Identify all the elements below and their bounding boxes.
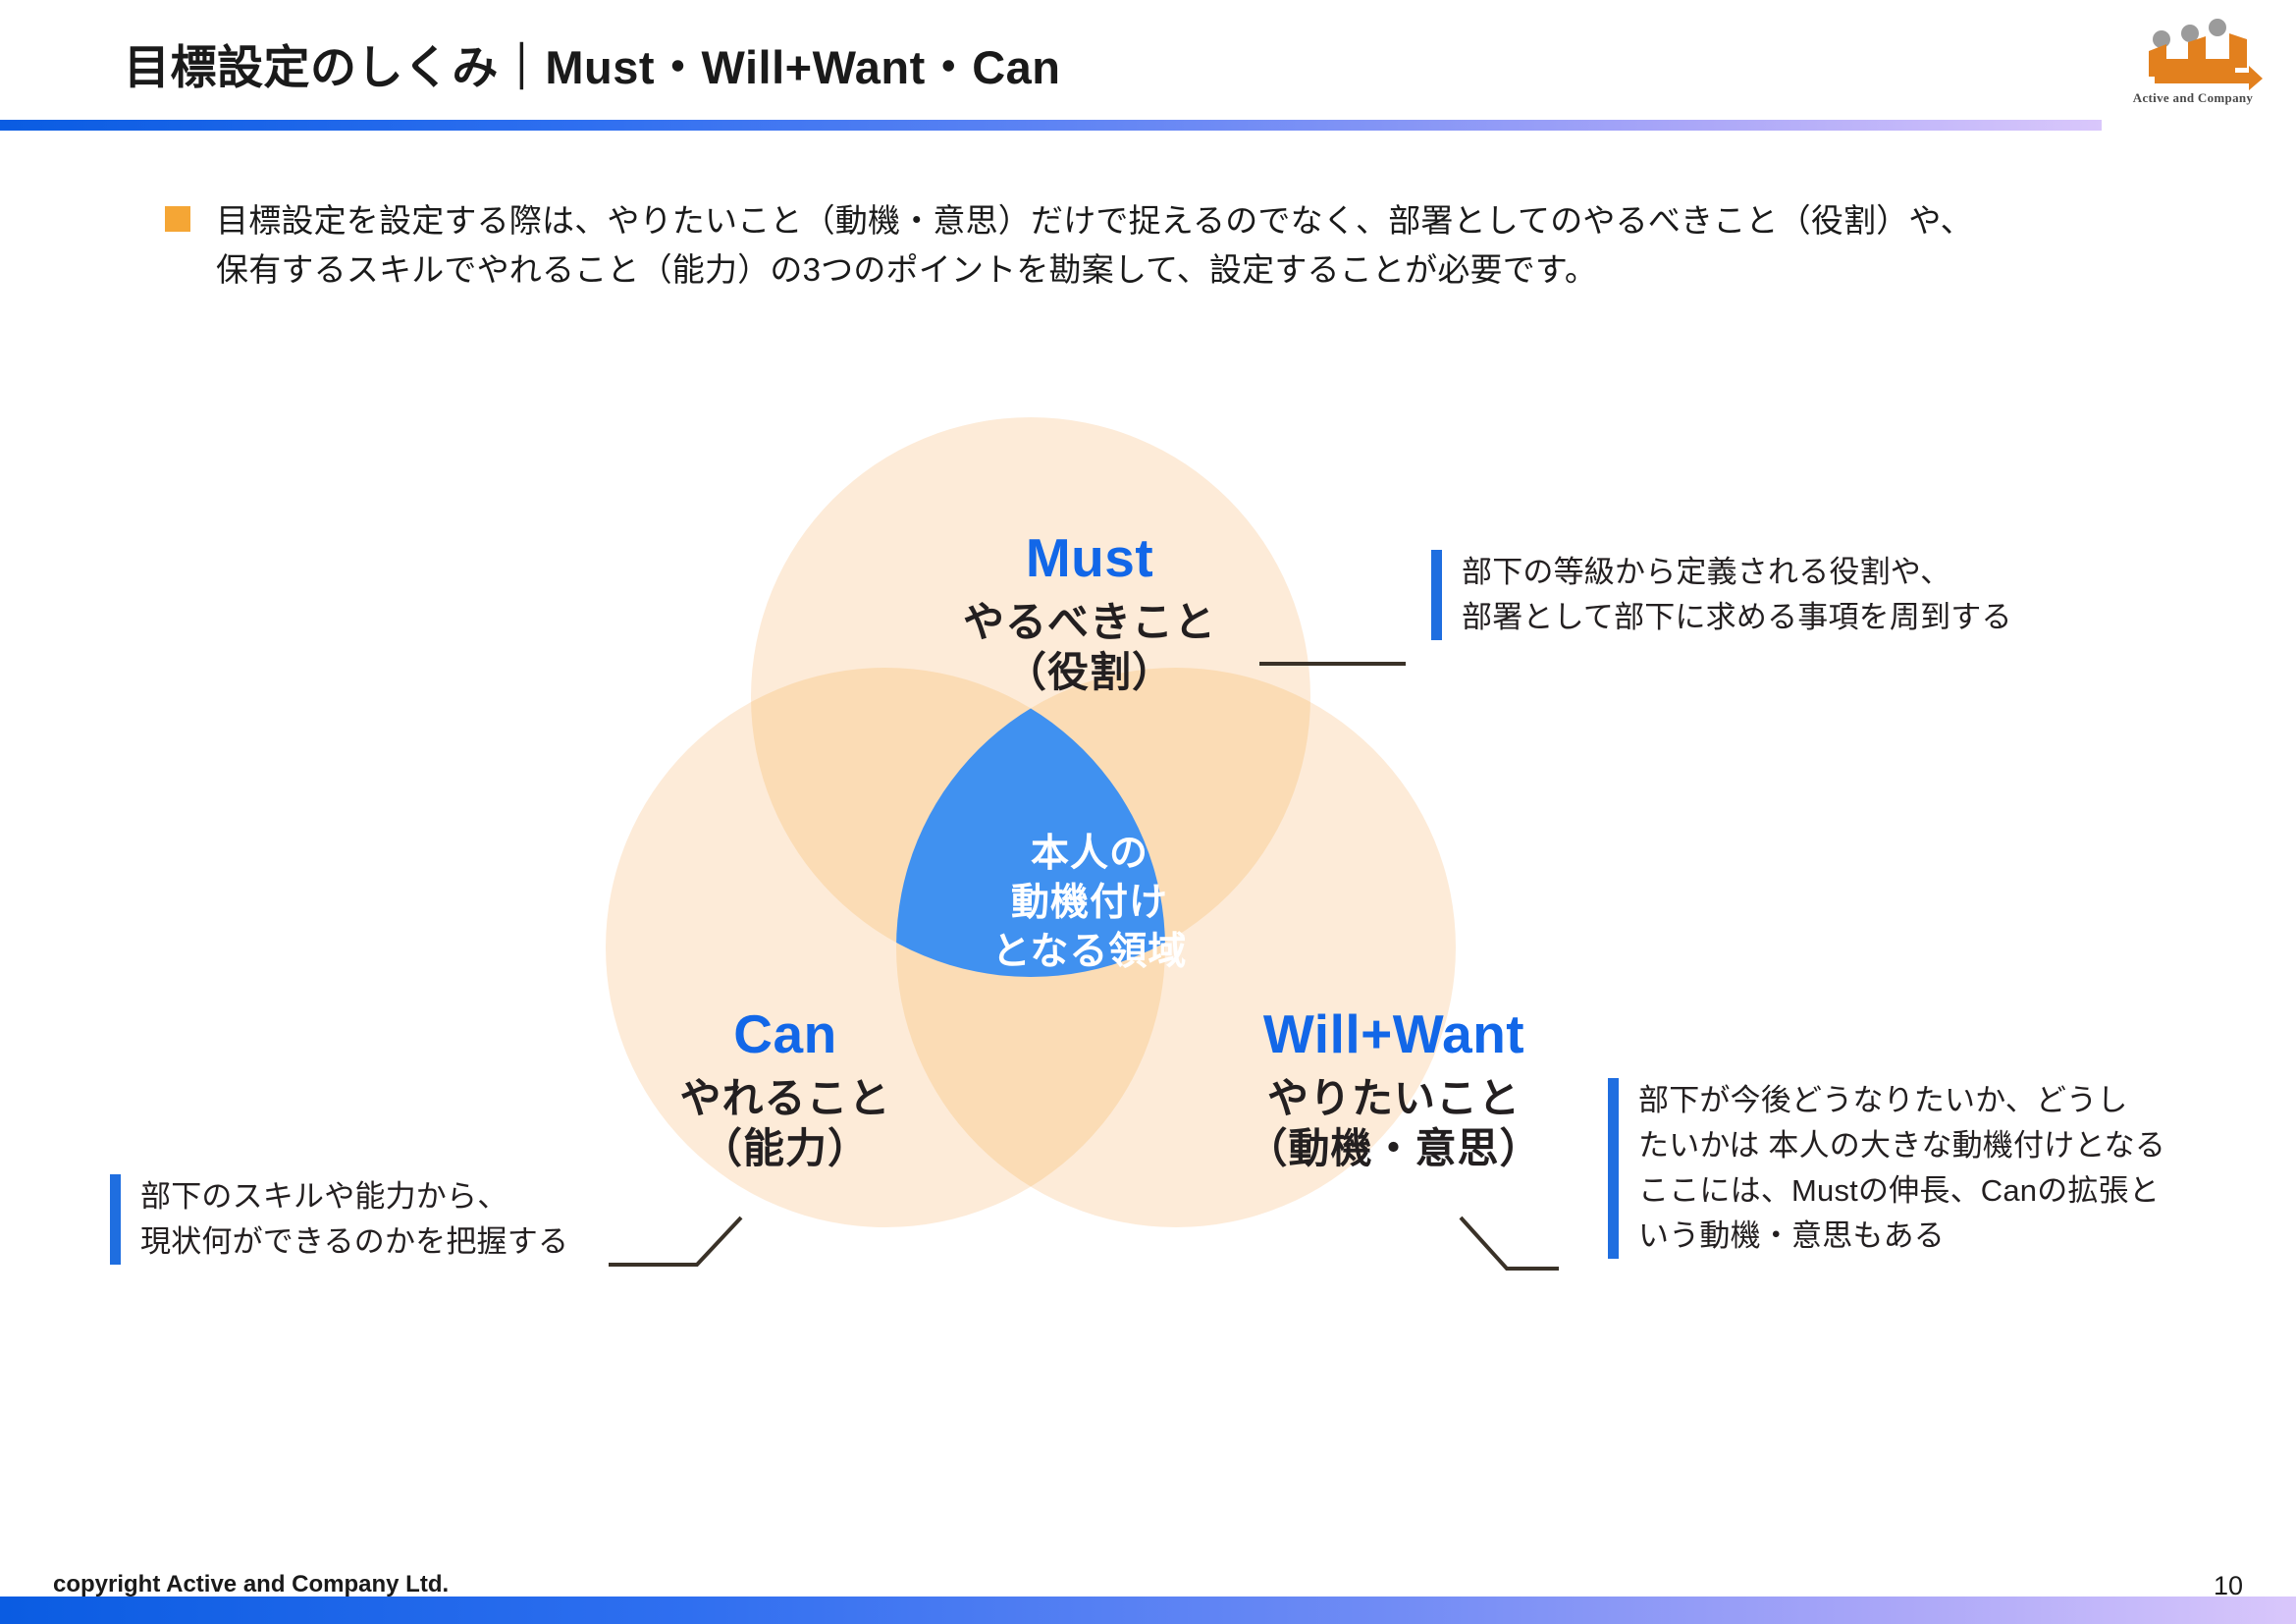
venn-center-line-2: 動機付け (933, 879, 1247, 928)
callout-must-line-2: 部署として部下に求める事項を周到する (1462, 595, 2012, 640)
company-logo: Active and Company (2119, 12, 2267, 108)
venn-label-must: Must やるべきこと （役割） (933, 525, 1247, 698)
lead-paragraph: 目標設定を設定する際は、やりたいこと（動機・意思）だけで捉えるのでなく、部署とし… (165, 196, 2148, 295)
callout-will-text: 部下が今後どうなりたいか、どうし たいかは 本人の大きな動機付けとなる ここには… (1638, 1078, 2165, 1259)
venn-label-must-jp2: （役割） (933, 647, 1247, 697)
callout-can-line-2: 現状何ができるのかを把握する (140, 1219, 568, 1265)
callout-must-line-1: 部下の等級から定義される役割や、 (1462, 550, 2012, 595)
callout-will-line-2: たいかは 本人の大きな動機付けとなる (1638, 1123, 2165, 1168)
page-title: 目標設定のしくみ｜Must・Will+Want・Can (124, 29, 1061, 97)
venn-label-will: Will+Want やりたいこと （動機・意思） (1207, 1001, 1580, 1174)
venn-center-line-3: となる領域 (933, 928, 1247, 977)
venn-label-must-jp1: やるべきこと (933, 597, 1247, 647)
venn-label-can: Can やれること （能力） (628, 1001, 942, 1174)
header-gradient-divider (0, 120, 2102, 131)
venn-label-must-en: Must (933, 525, 1247, 591)
callout-accent-bar (1608, 1078, 1619, 1259)
logo-mark-icon (2119, 12, 2267, 92)
venn-center-line-1: 本人の (933, 830, 1247, 879)
callout-will: 部下が今後どうなりたいか、どうし たいかは 本人の大きな動機付けとなる ここには… (1608, 1078, 2165, 1259)
lead-paragraph-text: 目標設定を設定する際は、やりたいこと（動機・意思）だけで捉えるのでなく、部署とし… (216, 196, 1973, 295)
venn-label-can-en: Can (628, 1001, 942, 1067)
venn-center-label: 本人の 動機付け となる領域 (933, 830, 1247, 977)
callout-can-text: 部下のスキルや能力から、 現状何ができるのかを把握する (140, 1174, 568, 1265)
callout-accent-bar (1431, 550, 1442, 640)
logo-caption: Active and Company (2119, 90, 2267, 106)
callout-can: 部下のスキルや能力から、 現状何ができるのかを把握する (110, 1174, 568, 1265)
venn-label-will-jp1: やりたいこと (1207, 1073, 1580, 1123)
footer-copyright: copyright Active and Company Ltd. (53, 1571, 449, 1598)
lead-line-2: 保有するスキルでやれること（能力）の3つのポイントを勘案して、設定することが必要… (216, 245, 1973, 295)
callout-will-line-4: いう動機・意思もある (1638, 1214, 2165, 1259)
bullet-square-icon (165, 206, 190, 232)
footer-gradient-bar (0, 1597, 2296, 1624)
venn-label-will-en: Will+Want (1207, 1001, 1580, 1067)
venn-label-can-jp2: （能力） (628, 1123, 942, 1173)
venn-label-can-jp1: やれること (628, 1073, 942, 1123)
callout-must: 部下の等級から定義される役割や、 部署として部下に求める事項を周到する (1431, 550, 2012, 640)
callout-must-text: 部下の等級から定義される役割や、 部署として部下に求める事項を周到する (1462, 550, 2012, 640)
callout-will-line-3: ここには、Mustの伸長、Canの拡張と (1638, 1168, 2165, 1214)
venn-label-will-jp2: （動機・意思） (1207, 1123, 1580, 1173)
lead-line-1: 目標設定を設定する際は、やりたいこと（動機・意思）だけで捉えるのでなく、部署とし… (216, 196, 1973, 245)
callout-can-line-1: 部下のスキルや能力から、 (140, 1174, 568, 1219)
callout-will-line-1: 部下が今後どうなりたいか、どうし (1638, 1078, 2165, 1123)
callout-accent-bar (110, 1174, 121, 1265)
